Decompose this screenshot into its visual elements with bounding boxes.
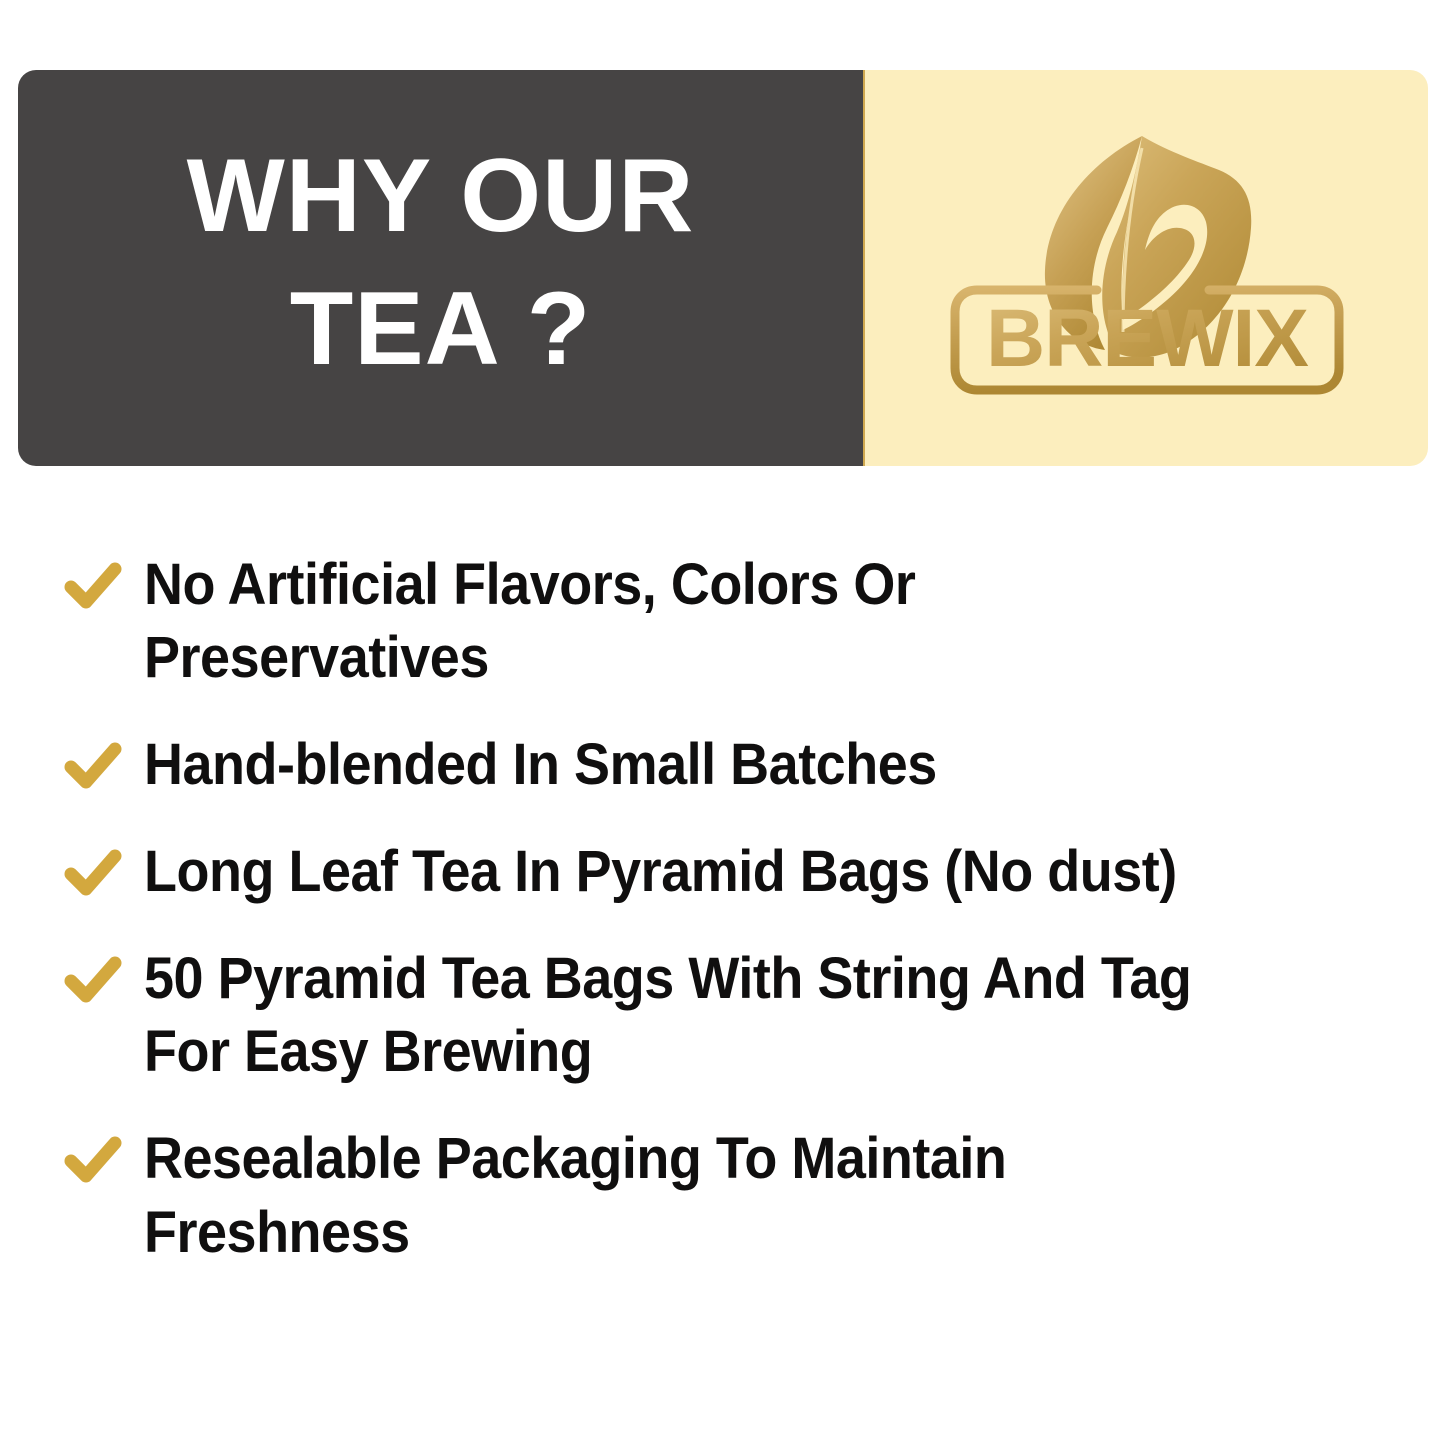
- brewix-logo-svg: BREWIX: [937, 118, 1357, 418]
- feature-list: No Artificial Flavors, Colors Or Preserv…: [62, 548, 1402, 1303]
- feature-item: 50 Pyramid Tea Bags With String And Tag …: [62, 942, 1402, 1088]
- feature-label: Long Leaf Tea In Pyramid Bags (No dust): [144, 835, 1177, 908]
- check-icon: [62, 843, 124, 905]
- check-icon: [62, 556, 124, 618]
- header-band: WHY OUR TEA ?: [18, 70, 1428, 466]
- feature-item: No Artificial Flavors, Colors Or Preserv…: [62, 548, 1402, 694]
- infographic-page: WHY OUR TEA ?: [0, 0, 1445, 1445]
- check-icon: [62, 1130, 124, 1192]
- page-title-line-1: WHY OUR: [187, 130, 695, 263]
- feature-label: No Artificial Flavors, Colors Or Preserv…: [144, 548, 1269, 694]
- feature-label: 50 Pyramid Tea Bags With String And Tag …: [144, 942, 1269, 1088]
- header-title-panel: WHY OUR TEA ?: [18, 70, 863, 466]
- feature-item: Resealable Packaging To Maintain Freshne…: [62, 1122, 1402, 1268]
- feature-item: Hand-blended In Small Batches: [62, 728, 1402, 801]
- brewix-logo: BREWIX BREWIX: [937, 118, 1357, 418]
- page-title-line-2: TEA ?: [290, 263, 592, 396]
- brand-logo-panel: BREWIX BREWIX: [863, 70, 1428, 466]
- feature-label: Resealable Packaging To Maintain Freshne…: [144, 1122, 1269, 1268]
- feature-item: Long Leaf Tea In Pyramid Bags (No dust): [62, 835, 1402, 908]
- brand-wordmark: BREWIX: [986, 293, 1308, 384]
- check-icon: [62, 736, 124, 798]
- feature-label: Hand-blended In Small Batches: [144, 728, 937, 801]
- check-icon: [62, 950, 124, 1012]
